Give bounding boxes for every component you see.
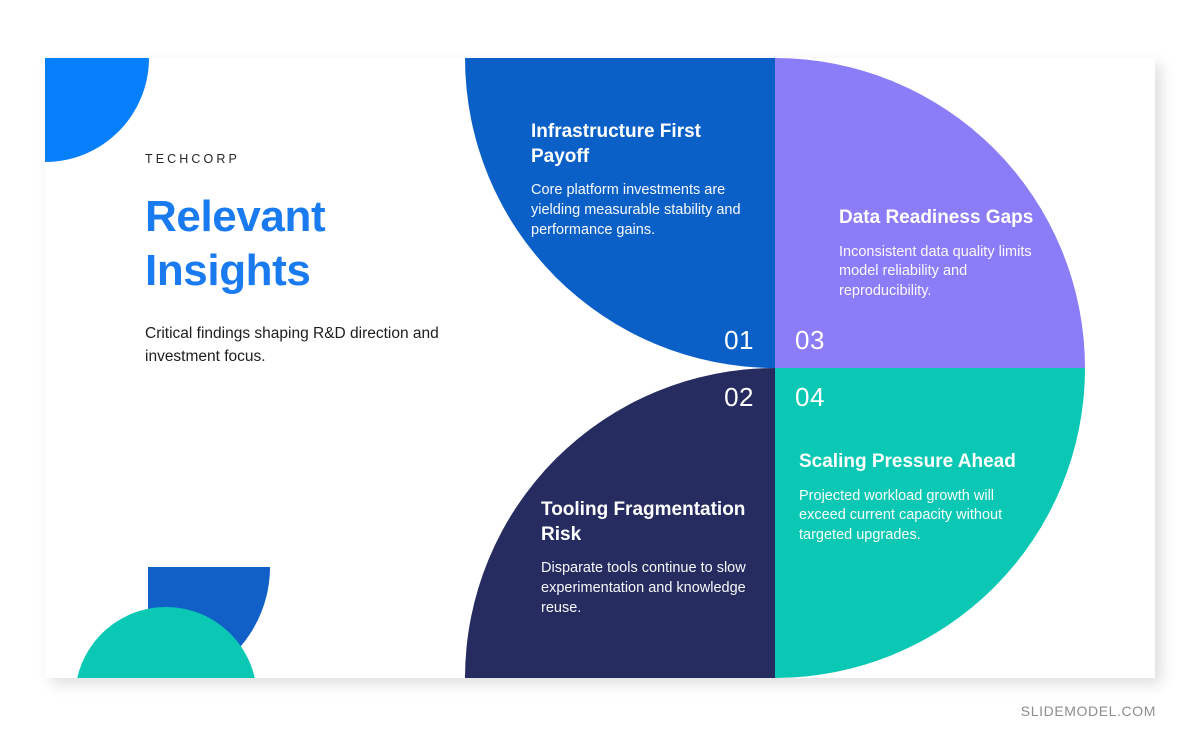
insight-card-03-text: Data Readiness Gaps Inconsistent data qu… [839,206,1061,302]
company-eyebrow: TECHCORP [145,152,475,166]
slide-canvas: TECHCORP Relevant Insights Critical find… [45,58,1155,678]
insight-card-01[interactable]: Infrastructure First Payoff Core platfor… [465,58,775,368]
insight-card-01-title: Infrastructure First Payoff [531,120,753,169]
insight-card-03-body: Inconsistent data quality limits model r… [839,243,1061,302]
insight-card-04-text: Scaling Pressure Ahead Projected workloa… [799,450,1033,546]
insight-card-03-number: 03 [795,325,825,356]
page-title: Relevant Insights [145,190,475,297]
insight-card-03[interactable]: Data Readiness Gaps Inconsistent data qu… [775,58,1085,368]
decorative-quarter-circle-top-left [45,58,149,162]
slide-subtitle: Critical findings shaping R&D direction … [145,323,475,368]
insight-card-02-title: Tooling Fragmentation Risk [541,498,763,547]
footer-brand: SLIDEMODEL.COM [1021,703,1156,719]
insight-card-02-number: 02 [724,382,754,413]
insight-card-04[interactable]: Scaling Pressure Ahead Projected workloa… [775,368,1085,678]
insight-card-01-body: Core platform investments are yielding m… [531,181,753,240]
insight-quadrant-grid: Infrastructure First Payoff Core platfor… [465,58,1085,678]
insight-card-01-text: Infrastructure First Payoff Core platfor… [531,120,753,241]
insight-card-02-body: Disparate tools continue to slow experim… [541,559,763,618]
insight-card-02-text: Tooling Fragmentation Risk Disparate too… [541,498,763,619]
insight-card-04-number: 04 [795,382,825,413]
insight-card-04-title: Scaling Pressure Ahead [799,450,1033,475]
insight-card-01-number: 01 [724,325,754,356]
insight-card-02[interactable]: Tooling Fragmentation Risk Disparate too… [465,368,775,678]
insight-card-04-body: Projected workload growth will exceed cu… [799,487,1033,546]
slide-intro-panel: TECHCORP Relevant Insights Critical find… [145,152,475,368]
insight-card-03-title: Data Readiness Gaps [839,206,1061,231]
